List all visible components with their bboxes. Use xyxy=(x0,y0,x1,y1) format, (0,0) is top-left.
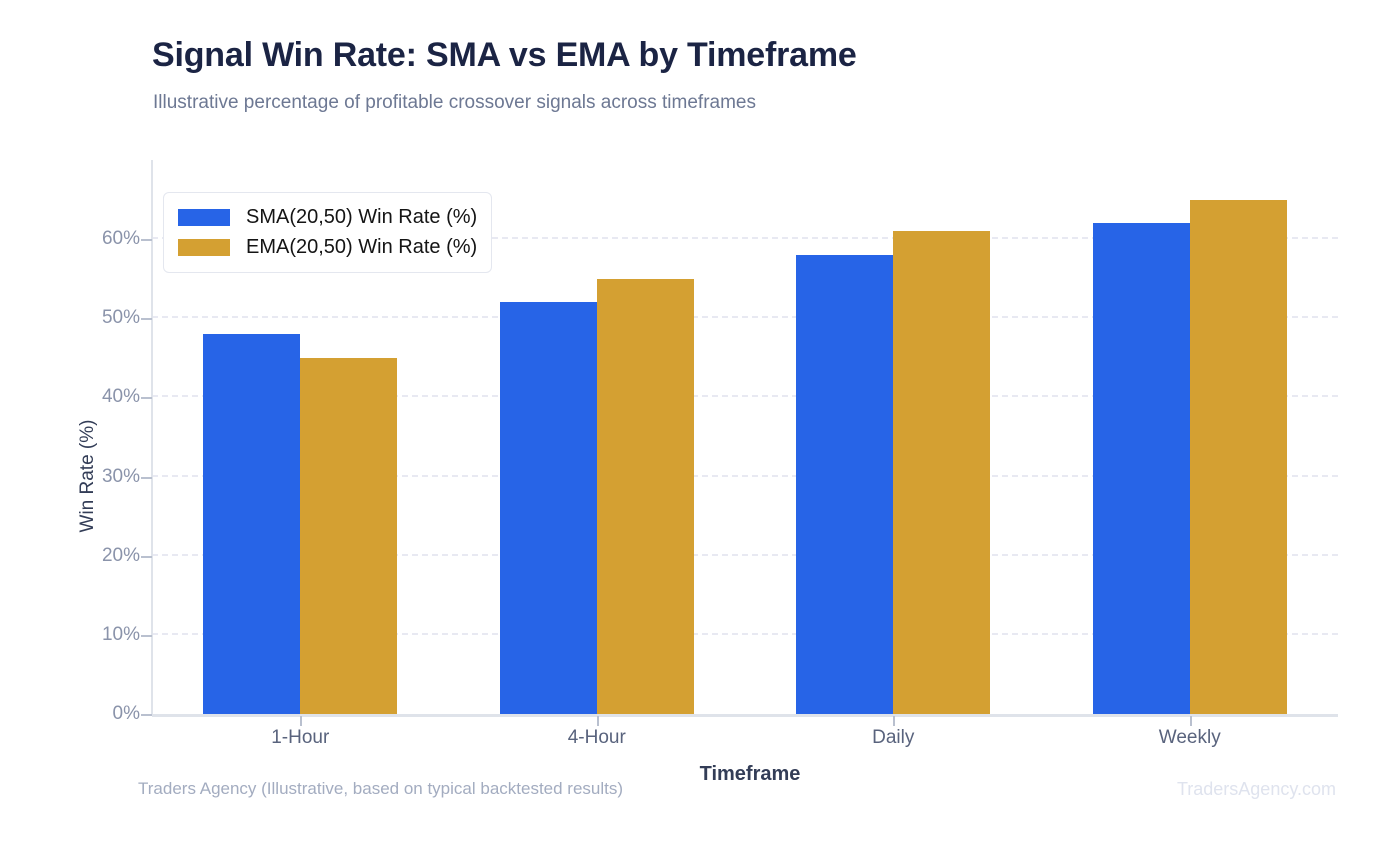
y-tick-label: 60% xyxy=(102,228,140,250)
y-tick-label: 30% xyxy=(102,466,140,488)
x-tick-label-1-hour: 1-Hour xyxy=(271,727,329,749)
bar-1-hour-sma[interactable] xyxy=(203,334,300,714)
chart-subtitle: Illustrative percentage of profitable cr… xyxy=(153,92,756,114)
x-tick-label-weekly: Weekly xyxy=(1159,727,1221,749)
legend-label: EMA(20,50) Win Rate (%) xyxy=(246,236,477,259)
footer-watermark: TradersAgency.com xyxy=(1177,779,1336,800)
legend-swatch-ema xyxy=(178,239,230,256)
bar-4-hour-sma[interactable] xyxy=(500,302,597,714)
x-tick-mark xyxy=(893,716,895,726)
bar-weekly-ema[interactable] xyxy=(1190,200,1287,714)
y-tick-label: 50% xyxy=(102,307,140,329)
legend-item-ema[interactable]: EMA(20,50) Win Rate (%) xyxy=(178,232,477,262)
y-tick-mark xyxy=(141,318,152,320)
y-tick-label: 0% xyxy=(113,703,140,725)
bar-1-hour-ema[interactable] xyxy=(300,358,397,714)
y-tick-mark xyxy=(141,635,152,637)
y-axis-spine xyxy=(151,160,153,716)
x-axis-baseline xyxy=(152,714,1338,717)
legend-item-sma[interactable]: SMA(20,50) Win Rate (%) xyxy=(178,202,477,232)
bar-daily-sma[interactable] xyxy=(796,255,893,714)
x-tick-mark xyxy=(1190,716,1192,726)
y-tick-mark xyxy=(141,714,152,716)
chart-legend[interactable]: SMA(20,50) Win Rate (%)EMA(20,50) Win Ra… xyxy=(163,192,492,273)
y-tick-mark xyxy=(141,556,152,558)
bar-4-hour-ema[interactable] xyxy=(597,279,694,714)
y-tick-mark xyxy=(141,477,152,479)
y-tick-label: 40% xyxy=(102,386,140,408)
y-tick-mark xyxy=(141,239,152,241)
bar-weekly-sma[interactable] xyxy=(1093,223,1190,714)
y-tick-label: 10% xyxy=(102,624,140,646)
x-tick-mark xyxy=(300,716,302,726)
y-axis-label: Win Rate (%) xyxy=(77,376,99,576)
legend-swatch-sma xyxy=(178,209,230,226)
legend-label: SMA(20,50) Win Rate (%) xyxy=(246,206,477,229)
x-axis-label: Timeframe xyxy=(700,763,801,786)
chart-title: Signal Win Rate: SMA vs EMA by Timeframe xyxy=(152,36,857,75)
x-tick-label-daily: Daily xyxy=(872,727,914,749)
y-tick-mark xyxy=(141,397,152,399)
x-tick-mark xyxy=(597,716,599,726)
bar-daily-ema[interactable] xyxy=(893,231,990,714)
x-tick-label-4-hour: 4-Hour xyxy=(568,727,626,749)
footer-source-note: Traders Agency (Illustrative, based on t… xyxy=(138,779,623,799)
y-tick-label: 20% xyxy=(102,545,140,567)
